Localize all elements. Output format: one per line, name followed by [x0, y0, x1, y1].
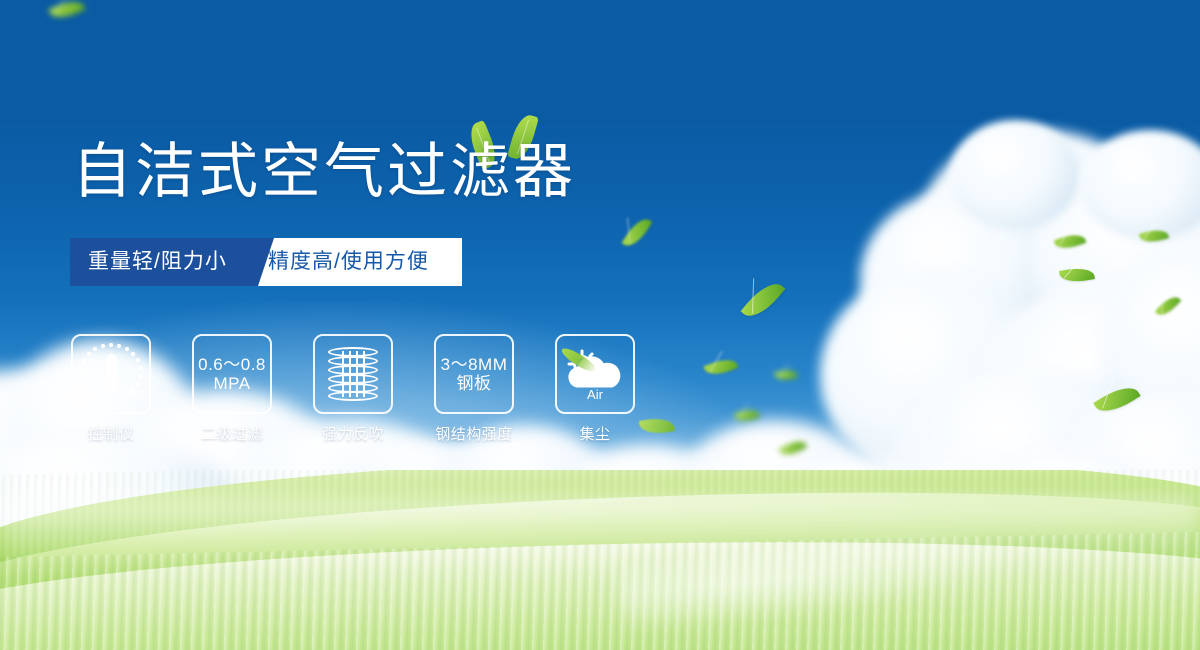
thickness-material: 钢板	[441, 374, 508, 393]
subtitle-left-label: 重量轻/阻力小	[88, 238, 227, 286]
cloud-air-icon: Air	[564, 346, 626, 402]
feature-caption: 二级过滤	[201, 423, 263, 444]
filter-stack-icon	[328, 347, 378, 401]
feature-item-dust: Air 集尘	[554, 334, 636, 444]
subtitle-bar: 重量轻/阻力小 精度高/使用方便	[70, 238, 462, 286]
air-label: Air	[587, 387, 604, 402]
feature-item-backblow: 强力反吹	[312, 334, 394, 444]
gauge-label-off: OFF	[128, 391, 143, 398]
feature-icon-box: 0.6～0.8 MPA	[192, 334, 272, 414]
feature-caption: 控制仪	[88, 423, 135, 444]
gauge-icon: NO OFF	[80, 343, 142, 405]
thickness-value: 3～8MM	[441, 355, 508, 374]
subtitle-right-label: 精度高/使用方便	[268, 238, 429, 286]
feature-item-pressure: 0.6～0.8 MPA 二级过滤	[191, 334, 273, 444]
pressure-text: 0.6～0.8 MPA	[198, 355, 266, 393]
pressure-value: 0.6～0.8	[198, 355, 266, 374]
thickness-text: 3～8MM 钢板	[441, 355, 508, 393]
gauge-label-no: NO	[78, 369, 89, 376]
gauge-needle	[106, 354, 117, 394]
feature-icon-box: NO OFF	[71, 334, 151, 414]
feature-item-steel: 3～8MM 钢板 钢结构强度	[433, 334, 515, 444]
feature-caption: 钢结构强度	[435, 423, 513, 444]
page-title: 自洁式空气过滤器	[72, 142, 576, 202]
feature-caption: 强力反吹	[322, 423, 384, 444]
feature-item-control: NO OFF 控制仪	[70, 334, 152, 444]
feature-caption: 集尘	[579, 423, 610, 444]
feature-icon-box: Air	[555, 334, 635, 414]
feature-icon-box: 3～8MM 钢板	[434, 334, 514, 414]
pressure-unit: MPA	[198, 374, 266, 393]
hero-banner: 自洁式空气过滤器 重量轻/阻力小 精度高/使用方便	[0, 0, 1200, 650]
feature-icon-box	[313, 334, 393, 414]
feature-list: NO OFF 控制仪 0.6～0.8 MPA 二级过滤	[70, 334, 636, 444]
